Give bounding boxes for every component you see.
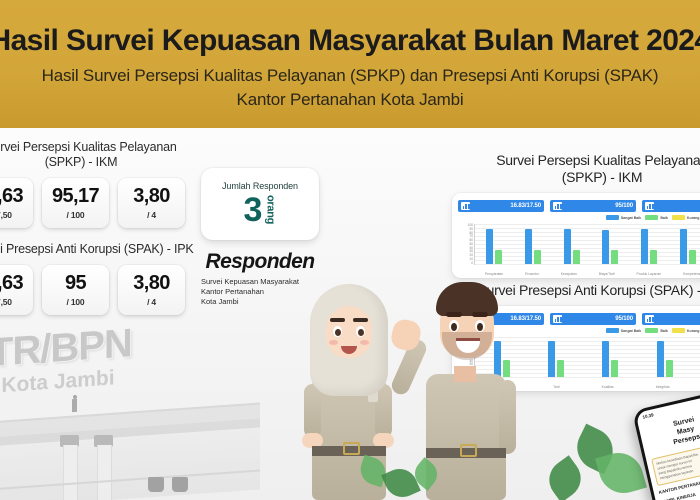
metric-denominator: / 100 (67, 210, 85, 220)
male-eyebrow (446, 312, 462, 317)
legend-label: Kurang Baik (687, 216, 700, 220)
female-officer-character (294, 278, 402, 500)
page-subtitle-line2: Kantor Pertanahan Kota Jambi (237, 90, 464, 110)
bar (666, 360, 673, 377)
x-tick-label: Produk Layanan (636, 272, 661, 276)
bar-chart-icon (553, 315, 562, 323)
chart-legend: Sangat Baik Baik Kurang Baik Tidak Baik (606, 215, 700, 220)
legend-swatch (645, 328, 658, 333)
chart-legend: Sangat Baik Baik Kurang Baik Tidak Baik (606, 328, 700, 333)
chart-title-line1: Survei Persepsi Kualitas Pelayanan (452, 152, 700, 169)
bar-chart-icon (553, 202, 562, 210)
bar (641, 229, 648, 264)
metric-denominator: / 17,50 (0, 297, 12, 307)
bar-chart-icon (461, 202, 470, 210)
female-cheek (360, 340, 369, 345)
metric-value: 16,63 (0, 186, 23, 206)
building-planter (172, 477, 188, 492)
legend-label: Kurang Baik (687, 329, 700, 333)
female-eyebrow (330, 318, 345, 322)
legend-label: Baik (660, 329, 668, 333)
bar (611, 360, 618, 377)
respondent-count-wrap: 3 orang (244, 193, 277, 227)
spak-metric-card-ipk-raw: 16,63 / 17,50 (0, 265, 33, 315)
spak-metric-card-ipk-4: 3,80 / 4 (118, 265, 185, 315)
legend-item: Sangat Baik (606, 215, 642, 220)
chart-title-line2: (SPKP) - IKM (452, 169, 700, 186)
bar-group (486, 224, 502, 264)
male-hair (436, 282, 498, 316)
spkp-metric-card-ikm-4: 3,80 / 4 (118, 178, 185, 228)
bar-group (602, 224, 618, 264)
legend-item: Kurang Baik (672, 215, 700, 220)
bar (557, 360, 564, 377)
female-eyebrow (353, 318, 368, 322)
x-tick-label: Kualitas (602, 385, 614, 389)
legend-swatch (606, 328, 619, 333)
x-tick-label: Kecepatan (561, 272, 577, 276)
kpi-pill[interactable]: 3,80 (642, 200, 700, 212)
metric-value: 95,17 (52, 186, 99, 206)
x-tick-label: Kompetensi (683, 272, 700, 276)
office-building-photo: ATR/BPN tah Kota Jambi (0, 295, 290, 500)
female-left-arm (304, 384, 321, 438)
spak-section-label: Survei Presepsi Anti Korupsi (SPAK) - IP… (0, 242, 196, 257)
metric-denominator: / 4 (147, 210, 156, 220)
bar-group (548, 337, 564, 377)
y-axis-labels: 1009080706050403020100 (460, 224, 473, 265)
female-cheek (329, 340, 338, 345)
respondent-count-card: Jumlah Responden 3 orang (201, 168, 319, 240)
male-belt-buckle (460, 444, 477, 457)
female-pupil (335, 329, 341, 336)
kpi-pill-value: 95/100 (615, 316, 633, 322)
male-eyebrow (472, 312, 488, 317)
bar (611, 250, 618, 264)
bar (650, 250, 657, 264)
bar-chart-icon (645, 202, 654, 210)
bar (486, 229, 493, 264)
bar-group (680, 224, 696, 264)
kpi-pill-row: 16.83/17.50 95/100 3,80 (458, 200, 700, 212)
metric-value: 3,80 (133, 273, 170, 293)
building-signage: ATR/BPN tah Kota Jambi (0, 323, 132, 401)
spkp-label-line1: Survei Persepsi Kualitas Pelayanan (0, 140, 196, 155)
legend-swatch (645, 215, 658, 220)
respondent-unit: orang (264, 195, 276, 224)
building-figure (72, 399, 77, 412)
female-pupil (358, 329, 364, 336)
male-right-arm (499, 380, 516, 454)
kpi-pill[interactable]: 95/100 (550, 200, 636, 212)
metric-value: 3,80 (133, 186, 170, 206)
bar (548, 341, 555, 377)
male-pupil (477, 323, 483, 331)
legend-swatch (606, 215, 619, 220)
x-tick-label: Integritas (656, 385, 670, 389)
bar (573, 250, 580, 264)
respondent-count: 3 (244, 193, 262, 227)
metric-denominator: / 100 (67, 297, 85, 307)
chart-section-spkp: Survei Persepsi Kualitas Pelayanan (SPKP… (452, 152, 700, 278)
building-planter (148, 477, 164, 492)
bar-group (564, 224, 580, 264)
spak-card-row: 16,63 / 17,50 95 / 100 3,80 / 4 (0, 265, 196, 315)
spkp-section-label: Survei Persepsi Kualitas Pelayanan (SPKP… (0, 140, 196, 170)
legend-label: Sangat Baik (621, 216, 642, 220)
legend-item: Kurang Baik (672, 328, 700, 333)
kpi-pill-value: 16.83/17.50 (510, 203, 541, 209)
bar (534, 250, 541, 264)
bar-group (525, 224, 541, 264)
legend-item: Sangat Baik (606, 328, 642, 333)
bar-group (602, 337, 618, 377)
respondent-caption: Jumlah Responden (222, 181, 298, 191)
page-subtitle-line1: Hasil Survei Persepsi Kualitas Pelayanan… (42, 66, 659, 86)
bar (564, 229, 571, 264)
bar-group (657, 337, 673, 377)
legend-item: Baik (645, 215, 668, 220)
spkp-card-row: 16,63 / 17,50 95,17 / 100 3,80 / 4 (0, 178, 196, 228)
bar (525, 229, 532, 264)
x-tick-label: Biaya/Tarif (599, 272, 615, 276)
kpi-pill[interactable]: 95/100 (550, 313, 636, 325)
kpi-pill[interactable]: 3,80 (642, 313, 700, 325)
legend-item: Baik (645, 328, 668, 333)
infographic-page: Hasil Survei Kepuasan Masyarakat Bulan M… (0, 0, 700, 500)
chart-title-spkp: Survei Persepsi Kualitas Pelayanan (SPKP… (452, 152, 700, 186)
phone-status-time: 10.39 (642, 412, 654, 419)
metric-denominator: / 4 (147, 297, 156, 307)
bar (602, 341, 609, 377)
chart-bars (475, 224, 700, 264)
legend-label: Sangat Baik (621, 329, 642, 333)
bar-chart-icon (645, 315, 654, 323)
mascot-characters (288, 262, 528, 500)
metric-value: 95 (65, 273, 86, 293)
bar (680, 229, 687, 264)
male-pupil (451, 323, 457, 331)
male-officer-character (396, 270, 522, 500)
x-tick-label: Tarif (553, 385, 559, 389)
spkp-metric-card-ikm-raw: 16,63 / 17,50 (0, 178, 33, 228)
bar (689, 250, 696, 264)
male-uniform (426, 374, 506, 500)
male-neck (454, 366, 476, 382)
bar-group (641, 224, 657, 264)
chart-plot-area (474, 224, 700, 265)
page-header: Hasil Survei Kepuasan Masyarakat Bulan M… (0, 0, 700, 128)
building-column (63, 445, 78, 500)
spak-metric-card-ipk-100: 95 / 100 (42, 265, 109, 315)
legend-swatch (672, 328, 685, 333)
legend-swatch (672, 215, 685, 220)
female-belt-buckle (343, 442, 360, 455)
bar (602, 230, 609, 264)
spkp-metric-card-ikm-100: 95,17 / 100 (42, 178, 109, 228)
metric-value: 16,63 (0, 273, 23, 293)
building-column (97, 445, 112, 500)
metrics-panel: Survei Persepsi Kualitas Pelayanan (SPKP… (0, 140, 196, 315)
legend-label: Baik (660, 216, 668, 220)
kpi-pill-value: 95/100 (615, 203, 633, 209)
kpi-pill[interactable]: 16.83/17.50 (458, 200, 544, 212)
spkp-label-line2: (SPKP) - IKM (0, 155, 196, 170)
page-title: Hasil Survei Kepuasan Masyarakat Bulan M… (0, 24, 700, 58)
metric-denominator: / 17,50 (0, 210, 12, 220)
bar (657, 341, 664, 377)
